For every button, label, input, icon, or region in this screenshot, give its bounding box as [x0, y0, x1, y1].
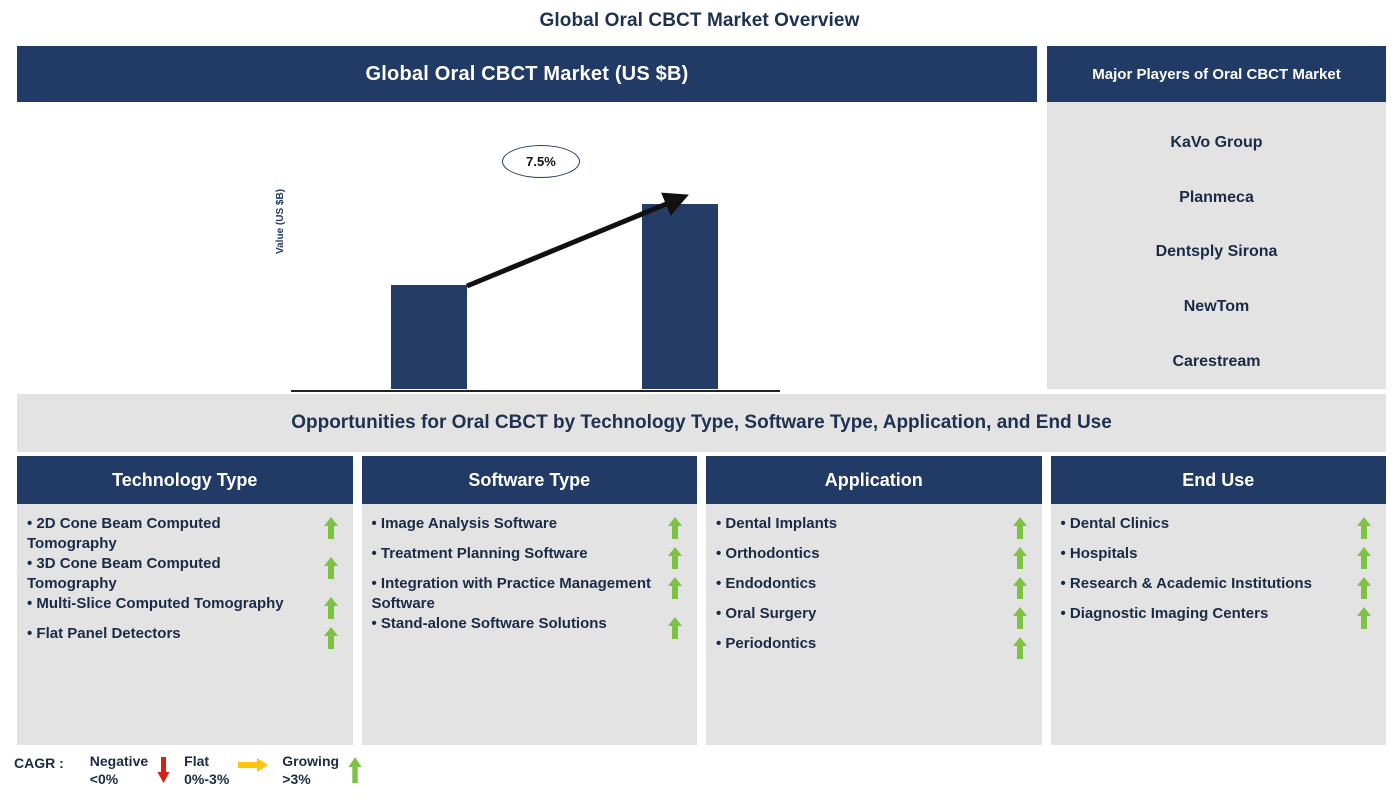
- segment-label: Multi-Slice Computed Tomography: [25, 594, 284, 614]
- legend-range: 0%-3%: [184, 771, 229, 789]
- column-header: Application: [706, 456, 1042, 504]
- column-header: Technology Type: [17, 456, 353, 504]
- legend-name: Flat: [184, 753, 229, 771]
- column-list: Dental Implants Orthodontics Endodontics: [706, 504, 1042, 745]
- arrow-up-green-icon: [323, 627, 339, 654]
- arrow-up-green-icon: [323, 597, 339, 624]
- infographic-page: Global Oral CBCT Market Overview Global …: [0, 0, 1399, 803]
- segment-columns: Technology Type 2D Cone Beam Computed To…: [17, 456, 1386, 745]
- arrow-up-green-icon: [667, 547, 683, 574]
- list-item: Dentsply Sirona: [1047, 225, 1386, 280]
- list-item: Orthodontics: [714, 544, 1034, 574]
- list-item: KaVo Group: [1047, 116, 1386, 171]
- list-item: Integration with Practice Management Sof…: [370, 574, 690, 614]
- legend-item-growing: Growing >3%: [282, 753, 370, 789]
- list-item: Carestream: [1047, 334, 1386, 389]
- list-item: Dental Clinics: [1059, 514, 1379, 544]
- major-players-card: Major Players of Oral CBCT Market KaVo G…: [1047, 46, 1386, 389]
- list-item: Stand-alone Software Solutions: [370, 614, 690, 644]
- arrow-up-green-icon: [667, 617, 683, 644]
- cagr-legend-title: CAGR :: [14, 753, 64, 771]
- segment-label: Endodontics: [714, 574, 816, 594]
- list-item: NewTom: [1047, 280, 1386, 335]
- column-header: End Use: [1051, 456, 1387, 504]
- arrow-up-green-icon: [1012, 637, 1028, 664]
- chart-y-axis-label: Value (US $B): [275, 134, 286, 254]
- list-item: Hospitals: [1059, 544, 1379, 574]
- segment-label: Orthodontics: [714, 544, 820, 564]
- segment-label: Oral Surgery: [714, 604, 816, 624]
- arrow-up-green-icon: [348, 757, 362, 786]
- segment-label: Dental Implants: [714, 514, 837, 534]
- opportunities-banner: Opportunities for Oral CBCT by Technolog…: [17, 394, 1386, 452]
- chart-x-axis-line: [291, 390, 780, 392]
- chart-plot-area: 2026 2035 7.5%: [291, 102, 791, 389]
- arrow-up-green-icon: [1012, 607, 1028, 634]
- market-chart-card: Global Oral CBCT Market (US $B) Value (U…: [17, 46, 1037, 389]
- arrow-right-yellow-icon: [238, 757, 268, 776]
- chart-card-header: Global Oral CBCT Market (US $B): [17, 46, 1037, 102]
- bar-2035: [642, 204, 718, 389]
- segment-label: Stand-alone Software Solutions: [370, 614, 607, 634]
- list-item: Periodontics: [714, 634, 1034, 664]
- segment-label: Flat Panel Detectors: [25, 624, 181, 644]
- segment-label: Treatment Planning Software: [370, 544, 588, 564]
- list-item: Diagnostic Imaging Centers: [1059, 604, 1379, 634]
- bar-2026: [391, 285, 467, 389]
- legend-text: Negative <0%: [90, 753, 148, 789]
- arrow-up-green-icon: [323, 517, 339, 544]
- chart-body: Value (US $B) 2026 2035 7.5% Source: [17, 102, 1037, 389]
- legend-text: Growing >3%: [282, 753, 339, 789]
- arrow-up-green-icon: [1356, 547, 1372, 574]
- segment-label: Dental Clinics: [1059, 514, 1170, 534]
- arrow-up-green-icon: [1012, 547, 1028, 574]
- segment-label: Diagnostic Imaging Centers: [1059, 604, 1269, 624]
- list-item: Research & Academic Institutions: [1059, 574, 1379, 604]
- segment-label: 2D Cone Beam Computed Tomography: [25, 514, 312, 554]
- arrow-up-green-icon: [667, 517, 683, 544]
- column-software-type: Software Type Image Analysis Software Tr…: [362, 456, 698, 745]
- arrow-up-green-icon: [1012, 517, 1028, 544]
- segment-label: Image Analysis Software: [370, 514, 558, 534]
- list-item: Planmeca: [1047, 171, 1386, 226]
- column-header: Software Type: [362, 456, 698, 504]
- segment-label: Integration with Practice Management Sof…: [370, 574, 657, 614]
- arrow-up-green-icon: [323, 557, 339, 584]
- list-item: Dental Implants: [714, 514, 1034, 544]
- segment-label: Research & Academic Institutions: [1059, 574, 1312, 594]
- column-application: Application Dental Implants Orthodontics…: [706, 456, 1042, 745]
- arrow-up-green-icon: [1356, 577, 1372, 604]
- legend-name: Growing: [282, 753, 339, 771]
- legend-item-flat: Flat 0%-3%: [184, 753, 276, 789]
- arrow-up-green-icon: [1012, 577, 1028, 604]
- legend-range: <0%: [90, 771, 148, 789]
- column-list: 2D Cone Beam Computed Tomography 3D Cone…: [17, 504, 353, 745]
- segment-label: Hospitals: [1059, 544, 1138, 564]
- arrow-up-green-icon: [667, 577, 683, 604]
- major-players-list: KaVo Group Planmeca Dentsply Sirona NewT…: [1047, 102, 1386, 389]
- page-title: Global Oral CBCT Market Overview: [0, 10, 1399, 32]
- cagr-legend: CAGR : Negative <0% Flat 0%-3% Growing >…: [14, 753, 376, 789]
- legend-text: Flat 0%-3%: [184, 753, 229, 789]
- list-item: Multi-Slice Computed Tomography: [25, 594, 345, 624]
- column-list: Image Analysis Software Treatment Planni…: [362, 504, 698, 745]
- column-list: Dental Clinics Hospitals Research & Acad…: [1051, 504, 1387, 745]
- arrow-up-green-icon: [1356, 517, 1372, 544]
- arrow-down-red-icon: [157, 757, 170, 786]
- list-item: Flat Panel Detectors: [25, 624, 345, 654]
- list-item: 2D Cone Beam Computed Tomography: [25, 514, 345, 554]
- segment-label: Periodontics: [714, 634, 816, 654]
- cagr-callout: 7.5%: [502, 145, 580, 178]
- column-end-use: End Use Dental Clinics Hospitals Researc…: [1051, 456, 1387, 745]
- list-item: Endodontics: [714, 574, 1034, 604]
- list-item: Image Analysis Software: [370, 514, 690, 544]
- arrow-up-green-icon: [1356, 607, 1372, 634]
- legend-name: Negative: [90, 753, 148, 771]
- list-item: 3D Cone Beam Computed Tomography: [25, 554, 345, 594]
- column-technology-type: Technology Type 2D Cone Beam Computed To…: [17, 456, 353, 745]
- major-players-header: Major Players of Oral CBCT Market: [1047, 46, 1386, 102]
- list-item: Treatment Planning Software: [370, 544, 690, 574]
- list-item: Oral Surgery: [714, 604, 1034, 634]
- segment-label: 3D Cone Beam Computed Tomography: [25, 554, 312, 594]
- legend-range: >3%: [282, 771, 339, 789]
- legend-item-negative: Negative <0%: [90, 753, 178, 789]
